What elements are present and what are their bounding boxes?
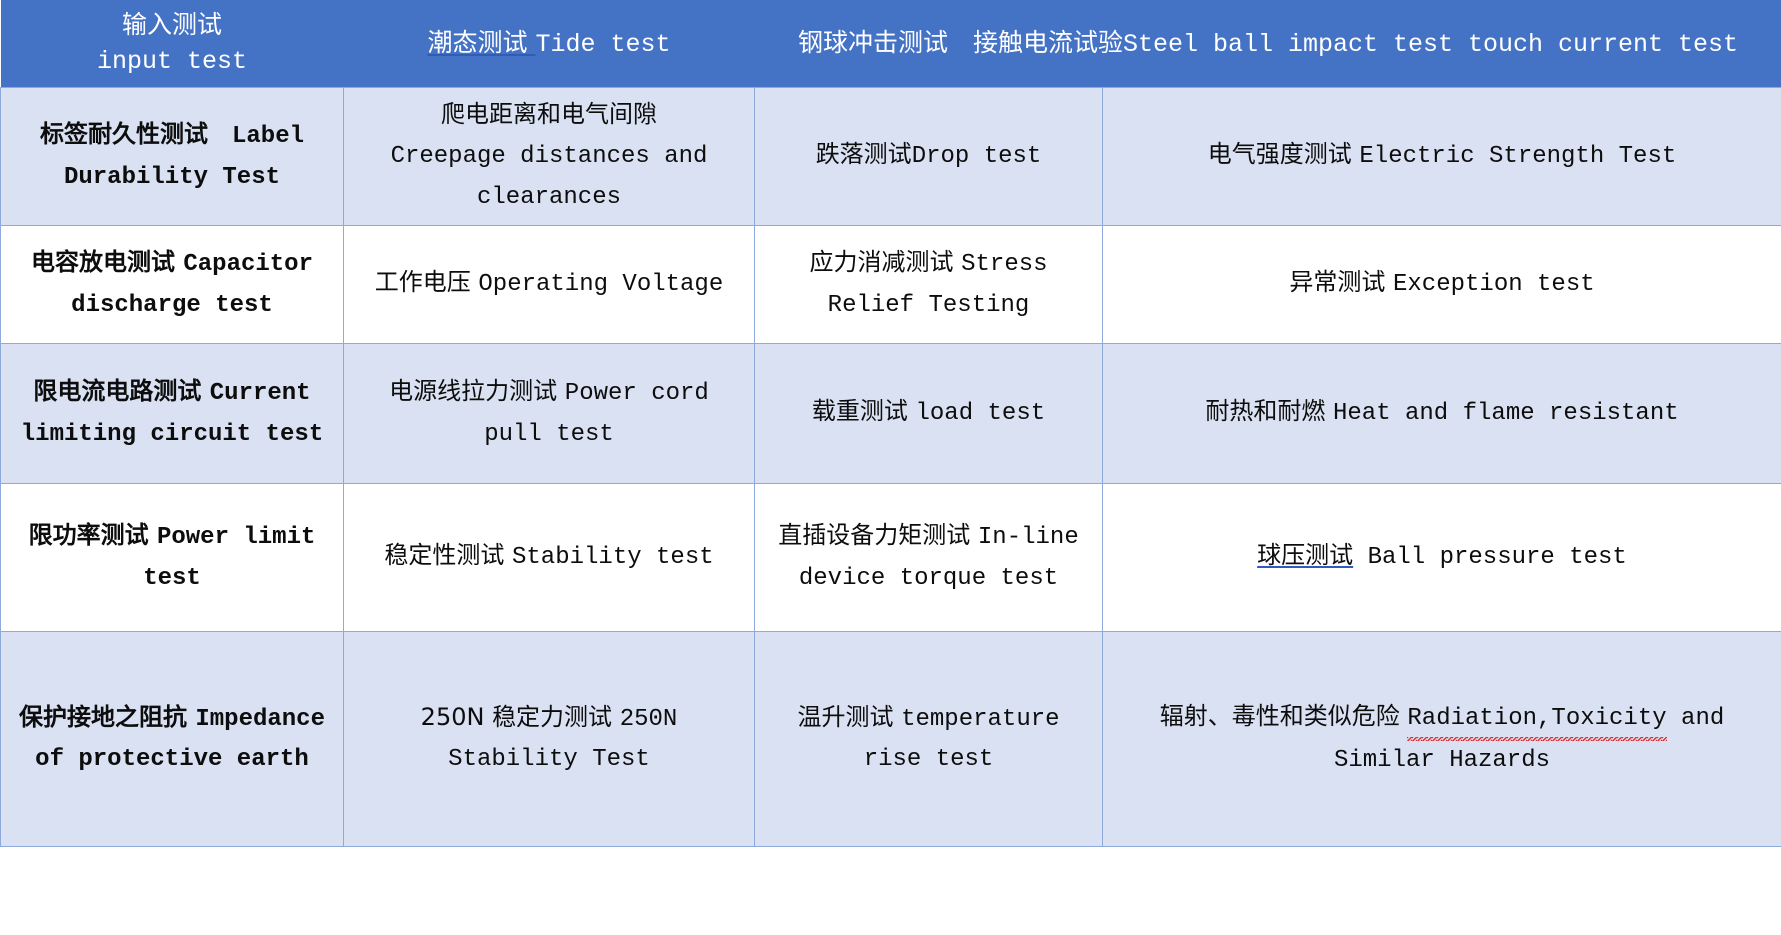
- table-header-row: 输入测试 input test 潮态测试 Tide test 钢球冲击测试 接触…: [1, 0, 1781, 87]
- spellcheck-flagged-text: Radiation,Toxicity: [1407, 699, 1666, 741]
- cell-cn-text: 直插设备力矩测试: [778, 521, 978, 549]
- cell-cn-text: 工作电压: [375, 268, 479, 296]
- header-cell-steel-ball-touch-current: 钢球冲击测试 接触电流试验Steel ball impact test touc…: [755, 0, 1781, 87]
- cell-en-text: Electric Strength Test: [1359, 143, 1676, 170]
- table-header: 输入测试 input test 潮态测试 Tide test 钢球冲击测试 接触…: [1, 0, 1781, 87]
- header-en-input-test: input test: [97, 47, 247, 76]
- cell-cn-text: 电气强度测试: [1208, 140, 1360, 168]
- header-cell-input-test: 输入测试 input test: [1, 0, 344, 87]
- header-cell-tide-test: 潮态测试 Tide test: [344, 0, 755, 87]
- test-items-table: 输入测试 input test 潮态测试 Tide test 钢球冲击测试 接触…: [0, 0, 1781, 847]
- cell-en-text: Heat and flame resistant: [1333, 400, 1679, 427]
- cell-250n-stability-test: 250N 稳定力测试 250N Stability Test: [344, 631, 755, 846]
- cell-cn-text: 限电流电路测试: [33, 377, 209, 405]
- cell-cn-text: 电源线拉力测试: [389, 377, 565, 405]
- table-row: 标签耐久性测试 Label Durability Test 爬电距离和电气间隙 …: [1, 87, 1781, 225]
- header-en-steel-ball-touch-current: Steel ball impact test touch current tes…: [1123, 30, 1738, 59]
- cell-en-text: load test: [916, 400, 1046, 427]
- cell-cn-text: 标签耐久性测试: [40, 120, 232, 148]
- cell-en-text: Creepage distances and clearances: [391, 143, 708, 210]
- cell-cn-text: 保护接地之阻抗: [19, 703, 195, 731]
- cell-capacitor-discharge-test: 电容放电测试 Capacitor discharge test: [1, 225, 344, 343]
- cell-radiation-toxicity-hazards: 辐射、毒性和类似危险 Radiation,Toxicity and Simila…: [1103, 631, 1781, 846]
- cell-stress-relief-testing: 应力消减测试 Stress Relief Testing: [755, 225, 1103, 343]
- cell-en-text: Power limit test: [143, 524, 315, 591]
- cell-operating-voltage: 工作电压 Operating Voltage: [344, 225, 755, 343]
- cell-cn-text: 爬电距离和电气间隙: [441, 100, 657, 128]
- cell-en-text: Operating Voltage: [478, 271, 723, 298]
- cell-power-cord-pull-test: 电源线拉力测试 Power cord pull test: [344, 343, 755, 483]
- cell-en-text: Stability test: [512, 544, 714, 571]
- cell-cn-text: 稳定性测试: [384, 541, 512, 569]
- cell-cn-text: 电容放电测试: [31, 248, 183, 276]
- cell-en-text: Ball pressure test: [1353, 544, 1627, 571]
- header-cn-tide-test: 潮态测试: [428, 28, 536, 57]
- cell-cn-text: 辐射、毒性和类似危险: [1160, 702, 1408, 730]
- cell-power-limit-test: 限功率测试 Power limit test: [1, 483, 344, 631]
- cell-cn-text: 应力消减测试: [809, 248, 961, 276]
- cell-impedance-protective-earth: 保护接地之阻抗 Impedance of protective earth: [1, 631, 344, 846]
- cell-electric-strength-test: 电气强度测试 Electric Strength Test: [1103, 87, 1781, 225]
- cell-heat-and-flame-resistant: 耐热和耐燃 Heat and flame resistant: [1103, 343, 1781, 483]
- table-row: 保护接地之阻抗 Impedance of protective earth 25…: [1, 631, 1781, 846]
- table-body: 标签耐久性测试 Label Durability Test 爬电距离和电气间隙 …: [1, 87, 1781, 846]
- cell-ball-pressure-test: 球压测试 Ball pressure test: [1103, 483, 1781, 631]
- cell-stability-test: 稳定性测试 Stability test: [344, 483, 755, 631]
- document-page: 输入测试 input test 潮态测试 Tide test 钢球冲击测试 接触…: [0, 0, 1781, 935]
- cell-cn-text: 球压测试: [1257, 541, 1353, 569]
- header-cn-steel-ball-touch-current: 钢球冲击测试 接触电流试验: [798, 28, 1123, 57]
- cell-cn-text: 载重测试: [812, 397, 916, 425]
- cell-current-limiting-circuit-test: 限电流电路测试 Current limiting circuit test: [1, 343, 344, 483]
- cell-in-line-device-torque-test: 直插设备力矩测试 In-line device torque test: [755, 483, 1103, 631]
- cell-load-test: 载重测试 load test: [755, 343, 1103, 483]
- cell-cn-text: 温升测试: [797, 703, 901, 731]
- cell-cn-text: 250N 稳定力测试: [421, 703, 620, 731]
- cell-creepage-clearances: 爬电距离和电气间隙 Creepage distances and clearan…: [344, 87, 755, 225]
- cell-exception-test: 异常测试 Exception test: [1103, 225, 1781, 343]
- cell-drop-test: 跌落测试Drop test: [755, 87, 1103, 225]
- cell-cn-text: 跌落测试: [816, 140, 912, 168]
- cell-cn-text: 限功率测试: [29, 521, 157, 549]
- cell-en-text: Exception test: [1393, 271, 1595, 298]
- table-row: 限功率测试 Power limit test 稳定性测试 Stability t…: [1, 483, 1781, 631]
- cell-cn-text: 耐热和耐燃: [1205, 397, 1333, 425]
- cell-temperature-rise-test: 温升测试 temperature rise test: [755, 631, 1103, 846]
- cell-label-durability-test: 标签耐久性测试 Label Durability Test: [1, 87, 344, 225]
- table-row: 电容放电测试 Capacitor discharge test 工作电压 Ope…: [1, 225, 1781, 343]
- cell-en-text: Drop test: [912, 143, 1042, 170]
- header-cn-input-test: 输入测试: [122, 10, 222, 39]
- table-row: 限电流电路测试 Current limiting circuit test 电源…: [1, 343, 1781, 483]
- header-en-tide-test: Tide test: [535, 30, 670, 59]
- cell-cn-text: 异常测试: [1289, 268, 1393, 296]
